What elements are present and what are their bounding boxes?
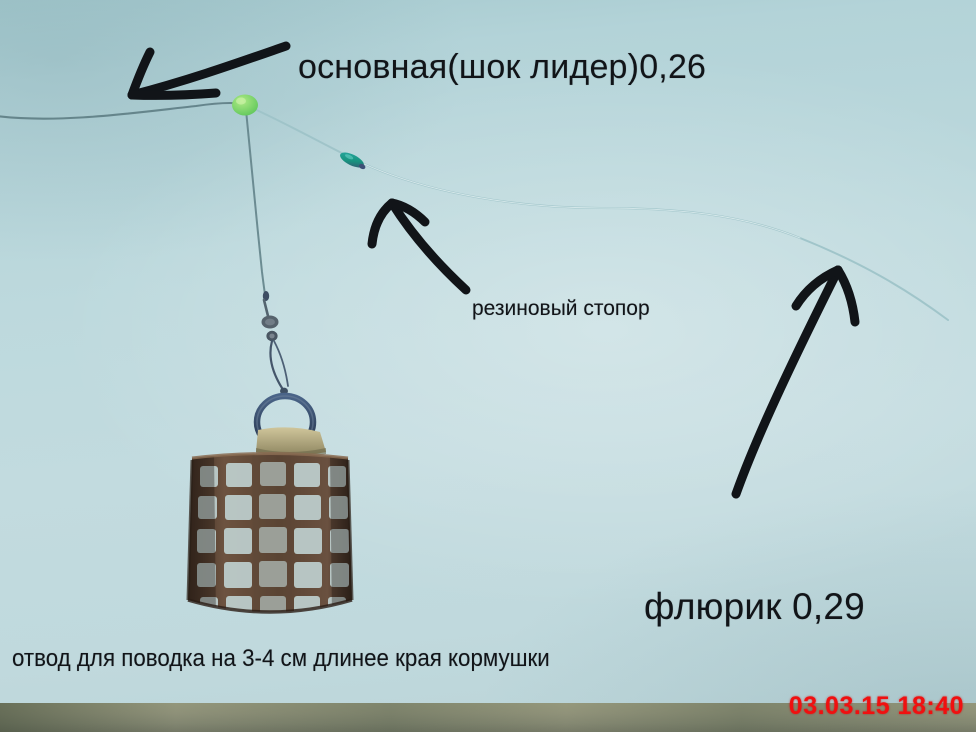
arrow-to-main-line-icon [132,46,286,95]
main-line [0,103,245,119]
dropper-line [246,110,266,300]
feeder-cage [188,452,354,621]
label-fluorocarbon: флюрик 0,29 [644,586,865,628]
snap-wire [270,341,282,388]
caption-dropper-length: отвод для поводка на 3-4 см длинее края … [12,645,550,673]
swivel-snap [262,291,289,394]
label-rubber-stopper: резиновый стопор [472,297,650,321]
label-main-line: основная(шок лидер)0,26 [298,48,706,87]
arrow-to-fluorocarbon-icon [736,270,855,494]
rubber-stopper [338,149,368,171]
camera-timestamp: 03.03.15 18:40 [789,692,964,721]
fluorocarbon-line-highlight [362,163,800,238]
green-bead-highlight [236,97,246,104]
fishing-rig-photo: основная(шок лидер)0,26 резиновый стопор… [0,0,976,732]
green-bead-knot [232,95,258,116]
arrow-to-rubber-stopper-icon [372,203,466,290]
